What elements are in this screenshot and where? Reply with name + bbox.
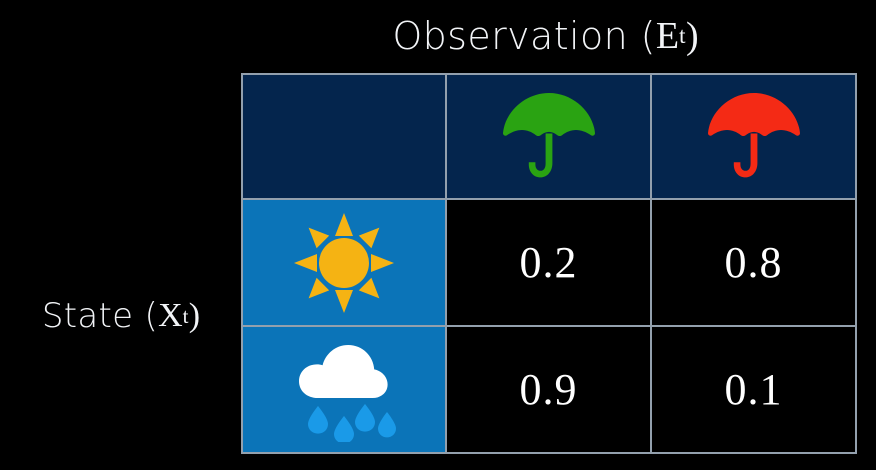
observation-label-suffix: ) <box>686 14 699 58</box>
sensor-model-table: 0.2 0.8 <box>241 73 857 454</box>
header-cell-umbrella-green <box>446 74 651 199</box>
table-row: 0.2 0.8 <box>242 199 856 326</box>
probability-value: 0.9 <box>520 365 578 414</box>
header-cell-umbrella-red <box>651 74 856 199</box>
rain-cloud-icon <box>243 327 445 452</box>
sun-icon <box>243 200 445 325</box>
row-header-cell-sun <box>242 199 446 326</box>
probability-cell-sun-red: 0.8 <box>651 199 856 326</box>
state-label-prefix: State ( <box>42 296 158 336</box>
probability-cell-rain-red: 0.1 <box>651 326 856 453</box>
observation-label-symbol: E <box>656 14 679 58</box>
probability-value: 0.2 <box>520 238 578 287</box>
umbrella-green-icon <box>447 75 650 198</box>
state-label: State (Xt) <box>8 292 234 340</box>
probability-value: 0.1 <box>725 365 783 414</box>
table-header-row <box>242 74 856 199</box>
probability-cell-sun-green: 0.2 <box>446 199 651 326</box>
probability-value: 0.8 <box>725 238 783 287</box>
observation-label-prefix: Observation ( <box>392 14 656 58</box>
observation-label-subscript: t <box>679 23 686 50</box>
state-label-suffix: ) <box>189 297 200 335</box>
row-header-cell-rain <box>242 326 446 453</box>
table-corner-cell <box>242 74 446 199</box>
state-label-symbol: X <box>158 297 183 335</box>
table-row: 0.9 0.1 <box>242 326 856 453</box>
probability-cell-rain-green: 0.9 <box>446 326 651 453</box>
umbrella-red-icon <box>652 75 855 198</box>
observation-label: Observation (Et) <box>241 6 850 66</box>
